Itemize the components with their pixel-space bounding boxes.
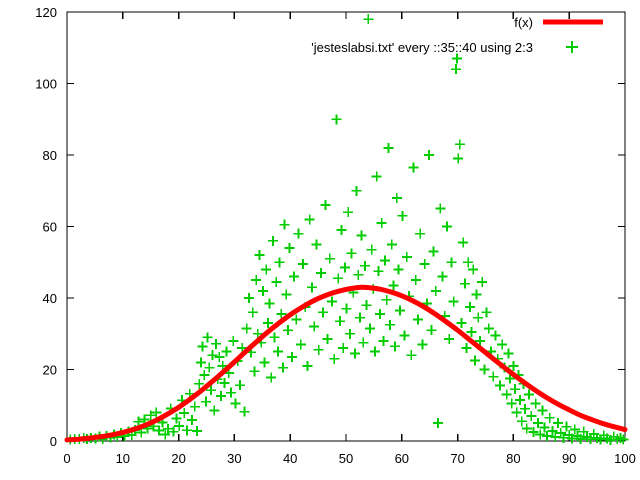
x-tick-label-50: 50 <box>339 451 353 466</box>
y-tick-label-40: 40 <box>43 291 57 306</box>
x-tick-label-40: 40 <box>283 451 297 466</box>
x-tick-label-0: 0 <box>63 451 70 466</box>
y-tick-label-20: 20 <box>43 363 57 378</box>
y-tick-label-120: 120 <box>35 5 57 20</box>
figure-background <box>0 0 640 480</box>
y-tick-label-60: 60 <box>43 220 57 235</box>
plot-canvas: 020406080100120 0102030405060708090100 f… <box>0 0 640 480</box>
y-tick-label-100: 100 <box>35 77 57 92</box>
x-tick-label-80: 80 <box>506 451 520 466</box>
y-tick-label-80: 80 <box>43 148 57 163</box>
x-tick-label-20: 20 <box>171 451 185 466</box>
x-tick-label-60: 60 <box>395 451 409 466</box>
x-tick-label-100: 100 <box>614 451 636 466</box>
legend-label-datafile: 'jesteslabsi.txt' every ::35::40 using 2… <box>311 40 533 55</box>
x-tick-label-30: 30 <box>227 451 241 466</box>
gnuplot-figure: 020406080100120 0102030405060708090100 f… <box>0 0 640 480</box>
x-tick-label-10: 10 <box>116 451 130 466</box>
y-tick-label-0: 0 <box>50 434 57 449</box>
x-tick-label-90: 90 <box>562 451 576 466</box>
legend-label-fx: f(x) <box>514 15 533 30</box>
x-tick-label-70: 70 <box>450 451 464 466</box>
